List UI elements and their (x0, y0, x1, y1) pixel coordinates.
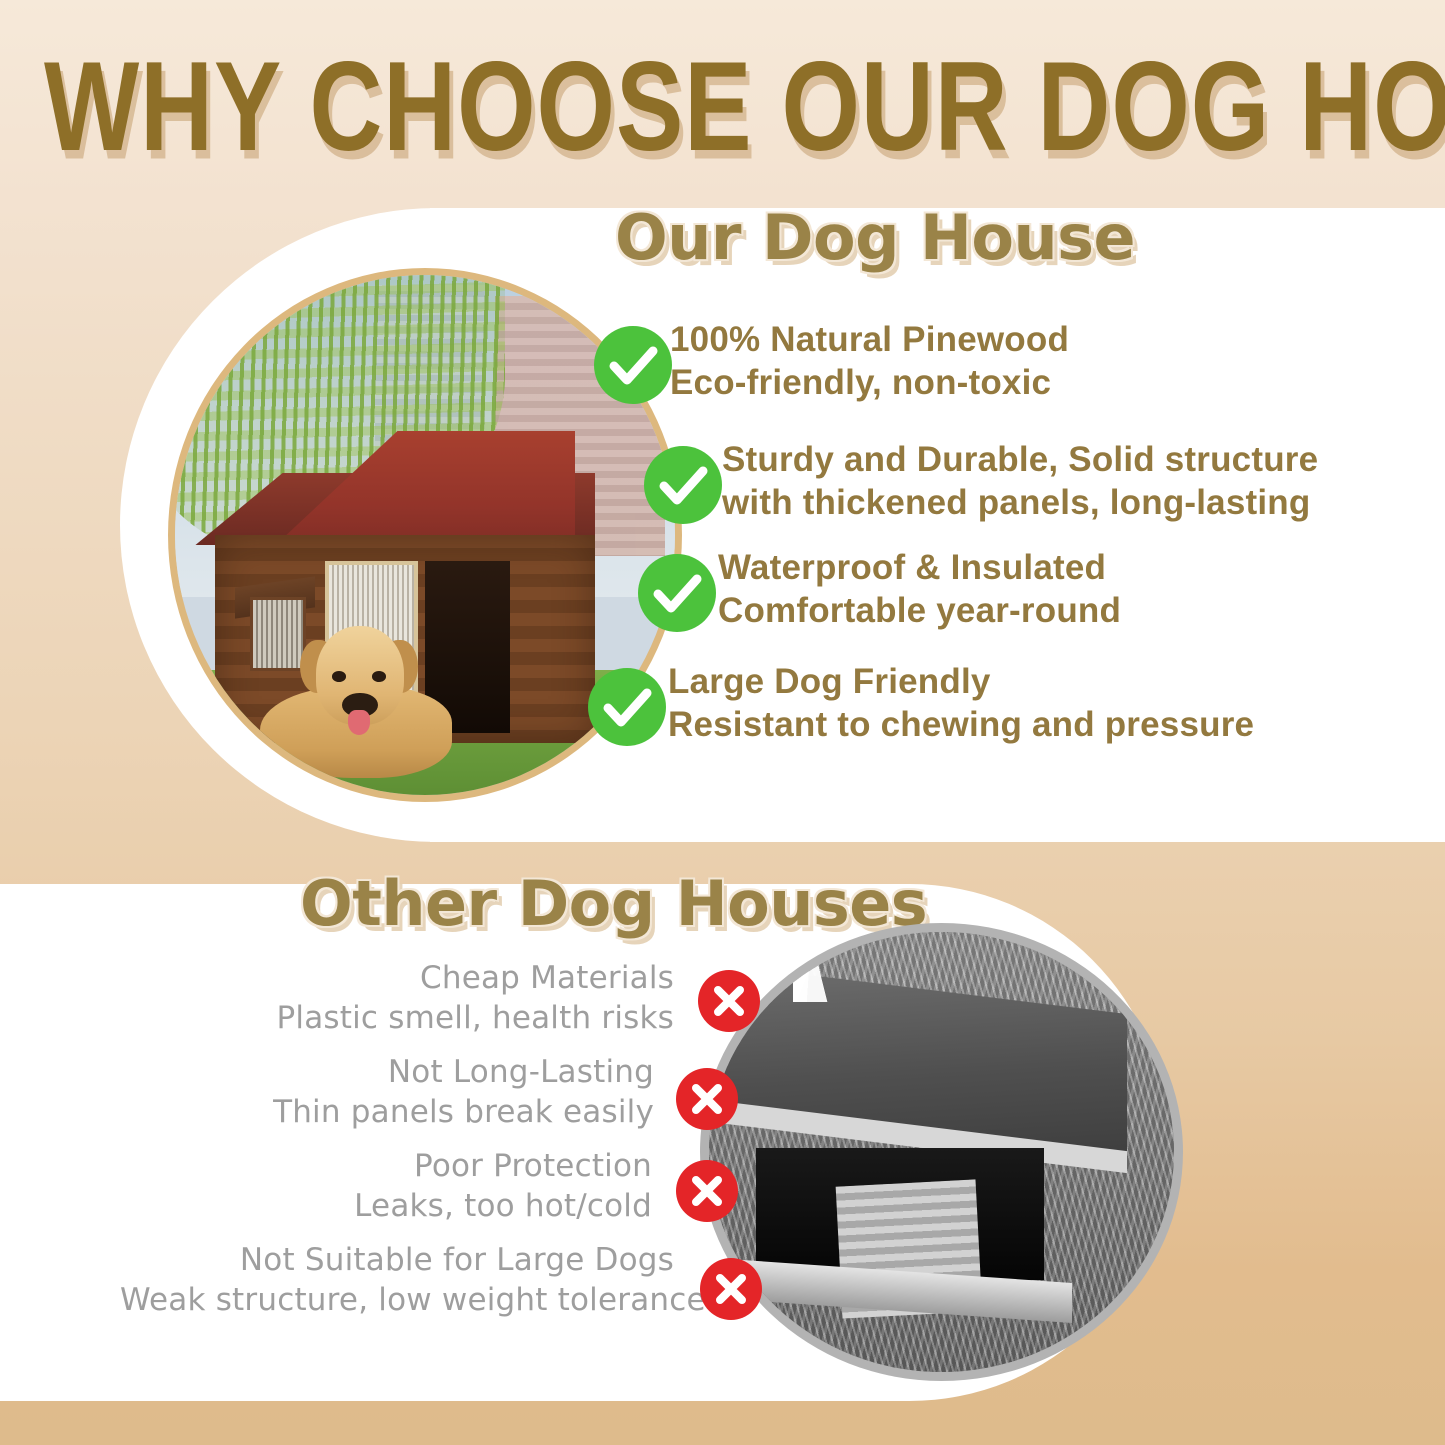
our-dog-house-heading: Our Dog House (615, 206, 1135, 270)
feature-line-2: Comfortable year-round (718, 589, 1430, 632)
feature-line-2: Resistant to chewing and pressure (668, 703, 1430, 746)
drawback-line-1: Not Long-Lasting (120, 1052, 654, 1092)
dog-eye-left (332, 671, 346, 682)
check-icon (594, 326, 672, 404)
drawback-item: Not Suitable for Large Dogs Weak structu… (120, 1240, 780, 1334)
feature-text: Waterproof & Insulated Comfortable year-… (590, 542, 1430, 632)
check-icon (588, 668, 666, 746)
feature-item: Sturdy and Durable, Solid structure with… (590, 430, 1430, 534)
drawback-line-2: Leaks, too hot/cold (120, 1186, 652, 1226)
feature-line-1: Sturdy and Durable, Solid structure (722, 438, 1430, 481)
check-icon (638, 554, 716, 632)
feature-item: 100% Natural Pinewood Eco-friendly, non-… (590, 318, 1430, 422)
x-icon (676, 1160, 738, 1222)
drawback-line-2: Weak structure, low weight tolerance (120, 1280, 674, 1320)
x-icon (700, 1258, 762, 1320)
dog-tongue (348, 710, 370, 735)
other-dog-houses-heading: Other Dog Houses (300, 872, 927, 936)
other-photo-debris (793, 941, 970, 1003)
drawbacks-list: Cheap Materials Plastic smell, health ri… (120, 958, 780, 1334)
feature-item: Waterproof & Insulated Comfortable year-… (590, 542, 1430, 646)
feature-line-1: Large Dog Friendly (668, 660, 1430, 703)
drawback-item: Not Long-Lasting Thin panels break easil… (120, 1052, 780, 1146)
title-band: WHY CHOOSE OUR DOG HOUSE?" (0, 0, 1445, 200)
dog-eye-right (372, 671, 386, 682)
feature-line-2: with thickened panels, long-lasting (722, 481, 1430, 524)
feature-text: 100% Natural Pinewood Eco-friendly, non-… (590, 318, 1430, 404)
page-title: WHY CHOOSE OUR DOG HOUSE?" (44, 44, 1373, 171)
infographic-page: WHY CHOOSE OUR DOG HOUSE?" Our Dog House (0, 0, 1445, 1445)
drawback-line-2: Plastic smell, health risks (120, 998, 674, 1038)
x-icon (676, 1068, 738, 1130)
feature-line-1: 100% Natural Pinewood (670, 318, 1430, 361)
drawback-line-1: Cheap Materials (120, 958, 674, 998)
drawback-text: Not Suitable for Large Dogs Weak structu… (120, 1240, 780, 1320)
drawback-line-2: Thin panels break easily (120, 1092, 654, 1132)
drawback-item: Cheap Materials Plastic smell, health ri… (120, 958, 780, 1052)
feature-text: Large Dog Friendly Resistant to chewing … (590, 654, 1430, 746)
check-icon (644, 446, 722, 524)
feature-item: Large Dog Friendly Resistant to chewing … (590, 654, 1430, 758)
drawback-text: Cheap Materials Plastic smell, health ri… (120, 958, 780, 1038)
photo-dog (260, 608, 460, 785)
drawback-line-1: Not Suitable for Large Dogs (120, 1240, 674, 1280)
drawback-line-1: Poor Protection (120, 1146, 652, 1186)
feature-line-1: Waterproof & Insulated (718, 546, 1430, 589)
feature-line-2: Eco-friendly, non-toxic (670, 361, 1430, 404)
x-icon (698, 970, 760, 1032)
drawback-item: Poor Protection Leaks, too hot/cold (120, 1146, 780, 1240)
features-list: 100% Natural Pinewood Eco-friendly, non-… (590, 318, 1430, 766)
